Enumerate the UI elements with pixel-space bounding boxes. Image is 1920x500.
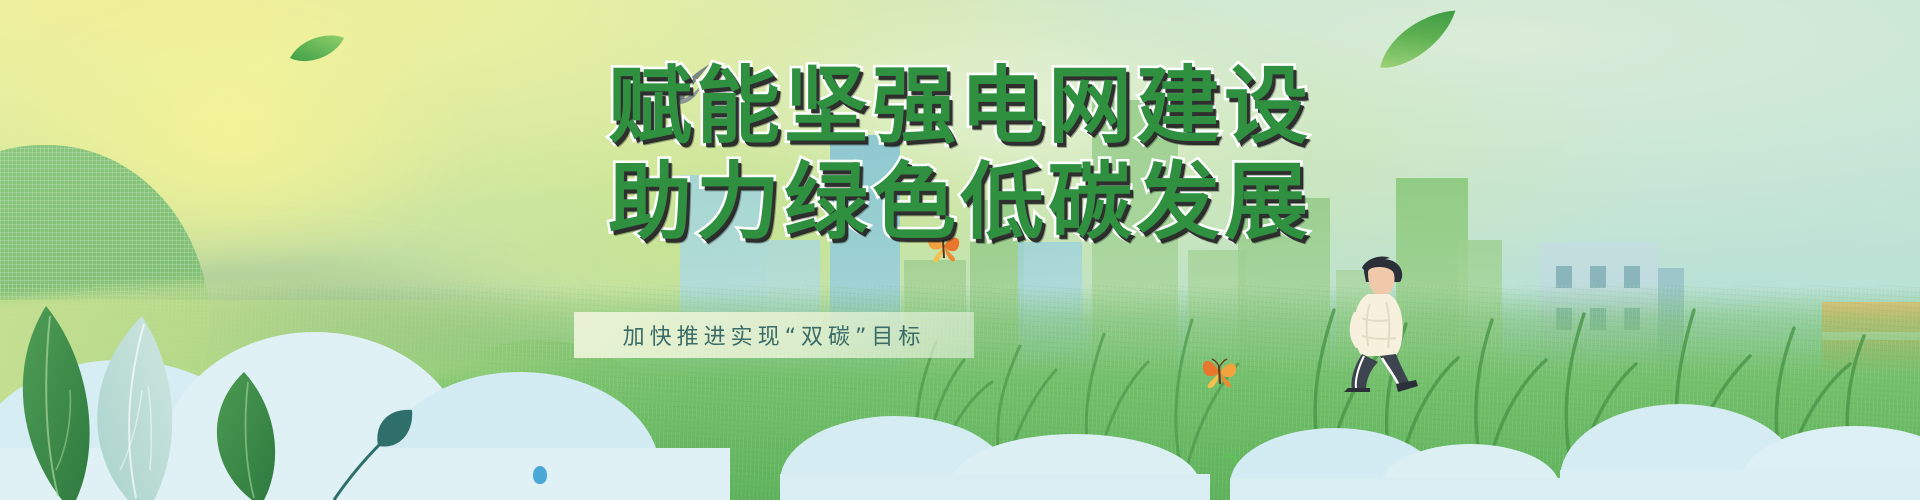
cloud-bank-right (1560, 390, 1920, 500)
foreground-leaf-right (188, 360, 308, 500)
eco-grid-banner: 赋能坚强电网建设 助力绿色低碳发展 加快推进实现“双碳”目标 (0, 0, 1920, 500)
floating-leaf-left (288, 32, 346, 66)
cloud-base (780, 474, 1210, 500)
butterfly-icon (1200, 352, 1240, 390)
walking-person (1330, 252, 1440, 392)
foreground-leaf-pale (58, 310, 208, 500)
swallow-bird-icon (640, 58, 716, 116)
cloud-bank-center (780, 410, 1210, 500)
sprig-leaf-teal (316, 380, 426, 500)
cloud-base (1560, 470, 1920, 500)
cloud-base (1230, 478, 1560, 500)
butterfly-icon-small (926, 228, 962, 264)
sprout-blue-dot (533, 466, 547, 484)
subtitle-text: 加快推进实现“双碳”目标 (623, 319, 926, 351)
cloud-bank-under-person (1230, 420, 1560, 500)
subtitle-bar: 加快推进实现“双碳”目标 (574, 312, 974, 358)
